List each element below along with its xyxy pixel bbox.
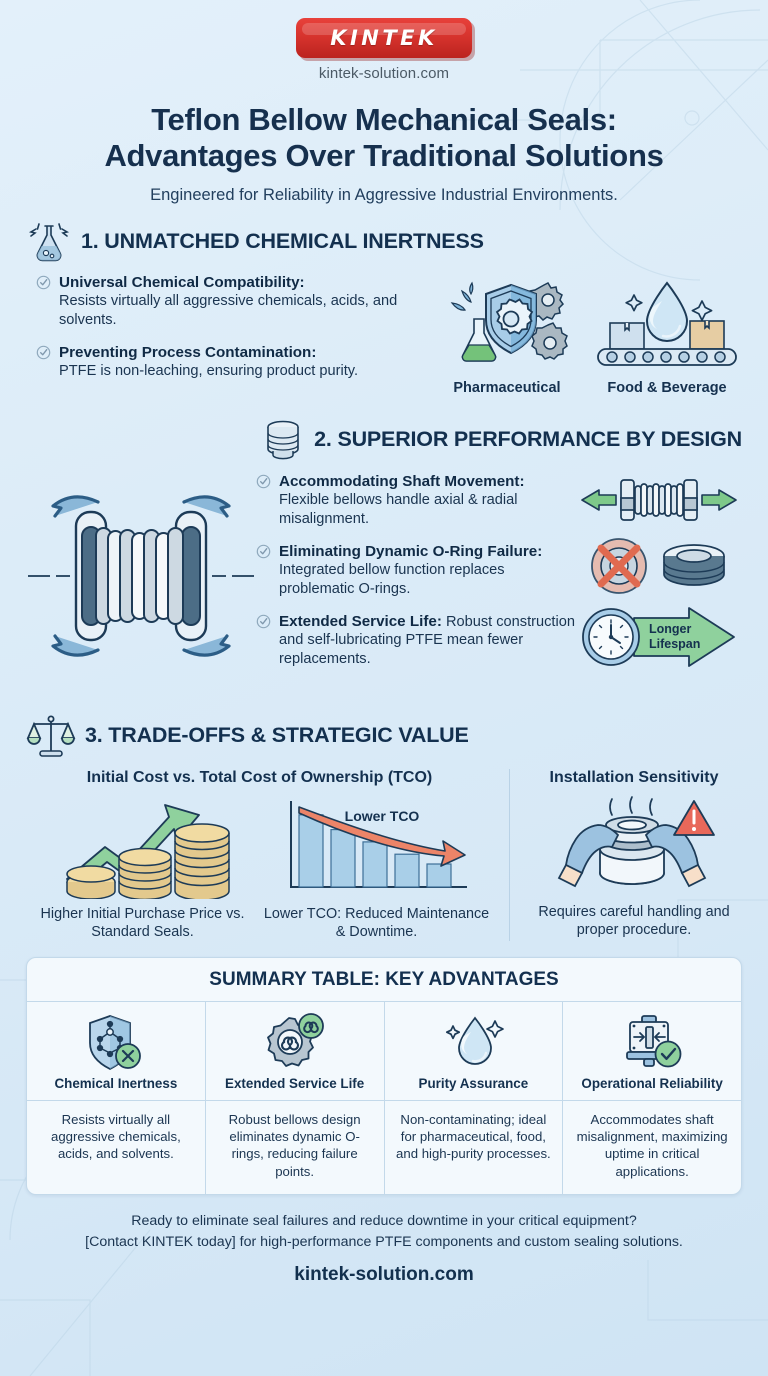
page-subtitle: Engineered for Reliability in Aggressive…	[0, 186, 768, 205]
check-circle-icon	[256, 544, 271, 559]
card-pharmaceutical: Pharmaceutical	[432, 273, 582, 396]
section-chemical-inertness: 1. UNMATCHED CHEMICAL INERTNESS Universa…	[0, 205, 768, 396]
footer-website[interactable]: kintek-solution.com	[0, 1264, 768, 1286]
bullet-lead: Extended Service Life:	[279, 613, 442, 630]
summary-heading: Extended Service Life	[206, 1074, 384, 1100]
bullet-lead: Accommodating Shaft Movement:	[279, 473, 525, 490]
list-item: Eliminating Dynamic O-Ring Failure: Inte…	[256, 542, 576, 599]
bellows-seal-diagram	[26, 472, 256, 682]
card-food-beverage: Food & Beverage	[592, 273, 742, 396]
page-title-line2: Advantages Over Traditional Solutions	[0, 138, 768, 174]
header: KINTEK kintek-solution.com Teflon Bellow…	[0, 0, 768, 205]
installation-caption: Requires careful handling and proper pro…	[526, 903, 742, 939]
infographic-page: KINTEK kintek-solution.com Teflon Bellow…	[0, 0, 768, 1376]
bellows-coil-icon	[261, 418, 305, 462]
section2-bullets: Accommodating Shaft Movement: Flexible b…	[256, 472, 576, 669]
section3-title: 3. TRADE-OFFS & STRATEGIC VALUE	[85, 723, 469, 748]
installation-block: Installation Sensitivity	[510, 769, 742, 941]
bullet-lead: Universal Chemical Compatibility:	[59, 274, 305, 291]
tco-title: Initial Cost vs. Total Cost of Ownership…	[26, 769, 493, 787]
list-item: Universal Chemical Compatibility: Resist…	[36, 273, 411, 330]
section-tradeoffs: 3. TRADE-OFFS & STRATEGIC VALUE Initial …	[0, 687, 768, 941]
section1-title: 1. UNMATCHED CHEMICAL INERTNESS	[81, 229, 484, 254]
bullet-body: Flexible bellows handle axial & radial m…	[279, 492, 518, 527]
bullet-body: Resists virtually all aggressive chemica…	[59, 293, 397, 328]
summary-column-operational-reliability: Operational Reliability Accommodates sha…	[563, 1002, 741, 1195]
conveyor-droplet-icon	[592, 273, 742, 373]
bullet-body: Integrated bellow function replaces prob…	[279, 562, 505, 597]
logo-wordmark: KINTEK	[330, 26, 438, 50]
list-item: Extended Service Life: Robust constructi…	[256, 612, 576, 669]
gear-infinity-icon	[263, 1012, 327, 1072]
kintek-logo: KINTEK	[296, 18, 472, 58]
water-drop-sparkle-icon	[441, 1012, 505, 1072]
summary-column-extended-service-life: Extended Service Life Robust bellows des…	[206, 1002, 385, 1195]
bullet-lead: Eliminating Dynamic O-Ring Failure:	[279, 543, 542, 560]
badge-line2: Lifespan	[649, 637, 700, 651]
summary-body: Resists virtually all aggressive chemica…	[27, 1101, 205, 1177]
header-website: kintek-solution.com	[0, 65, 768, 82]
axial-movement-icon	[579, 472, 739, 528]
chart-annotation: Lower TCO	[344, 808, 419, 824]
section1-header: 1. UNMATCHED CHEMICAL INERTNESS	[26, 219, 742, 265]
page-title-line1: Teflon Bellow Mechanical Seals:	[0, 102, 768, 138]
card-label: Food & Beverage	[592, 380, 742, 396]
list-item: Accommodating Shaft Movement: Flexible b…	[256, 472, 576, 529]
section3-header: 3. TRADE-OFFS & STRATEGIC VALUE	[26, 713, 742, 759]
coins-caption: Higher Initial Purchase Price vs. Standa…	[29, 905, 257, 941]
chart-caption: Lower TCO: Reduced Maintenance & Downtim…	[263, 905, 491, 941]
check-circle-icon	[36, 345, 51, 360]
shield-gears-flask-icon	[436, 273, 578, 373]
coins-graphic-block: Higher Initial Purchase Price vs. Standa…	[29, 797, 257, 941]
flask-icon	[26, 219, 72, 265]
bellows-illustration	[26, 472, 256, 687]
lower-tco-bar-chart: Lower TCO	[277, 797, 477, 899]
no-oring-icon	[579, 534, 739, 598]
footer: Ready to eliminate seal failures and red…	[0, 1211, 768, 1286]
summary-column-purity-assurance: Purity Assurance Non-contaminating; idea…	[385, 1002, 564, 1195]
bullet-lead: Preventing Process Contamination:	[59, 344, 316, 361]
summary-title: SUMMARY TABLE: KEY ADVANTAGES	[27, 958, 741, 1002]
card-label: Pharmaceutical	[432, 380, 582, 396]
balance-scale-icon	[26, 713, 76, 759]
check-circle-icon	[36, 275, 51, 290]
list-item: Preventing Process Contamination: PTFE i…	[36, 343, 411, 381]
summary-table: SUMMARY TABLE: KEY ADVANTAGES	[26, 957, 742, 1196]
rising-cost-coins-icon	[43, 797, 243, 899]
footer-line1: Ready to eliminate seal failures and red…	[0, 1211, 768, 1232]
summary-column-chemical-inertness: Chemical Inertness Resists virtually all…	[27, 1002, 206, 1195]
seal-check-icon	[620, 1012, 684, 1072]
section2-title: 2. SUPERIOR PERFORMANCE BY DESIGN	[314, 427, 742, 452]
careful-handling-icon	[534, 795, 734, 897]
bullet-body: PTFE is non-leaching, ensuring product p…	[59, 363, 358, 379]
section2-icon-column: Longer Lifespan	[576, 472, 742, 687]
section1-bullets: Universal Chemical Compatibility: Resist…	[36, 273, 411, 381]
section2-header: 2. SUPERIOR PERFORMANCE BY DESIGN	[26, 418, 742, 462]
shield-molecule-icon	[84, 1012, 148, 1072]
summary-body: Non-contaminating; ideal for pharmaceuti…	[385, 1101, 563, 1177]
summary-heading: Chemical Inertness	[27, 1074, 205, 1100]
summary-body: Robust bellows design eliminates dynamic…	[206, 1101, 384, 1195]
check-circle-icon	[256, 474, 271, 489]
tco-chart-block: Lower TCO Lower TCO: Reduced Maintenance…	[263, 797, 491, 941]
longer-lifespan-icon: Longer Lifespan	[579, 604, 739, 670]
footer-line2: [Contact KINTEK today] for high-performa…	[0, 1232, 768, 1253]
summary-heading: Operational Reliability	[563, 1074, 741, 1100]
tco-comparison-block: Initial Cost vs. Total Cost of Ownership…	[26, 769, 510, 941]
badge-line1: Longer	[649, 622, 691, 636]
summary-body: Accommodates shaft misalignment, maximiz…	[563, 1101, 741, 1195]
section-superior-performance: 2. SUPERIOR PERFORMANCE BY DESIGN	[0, 396, 768, 687]
check-circle-icon	[256, 614, 271, 629]
summary-heading: Purity Assurance	[385, 1074, 563, 1100]
installation-title: Installation Sensitivity	[526, 769, 742, 787]
page-title: Teflon Bellow Mechanical Seals: Advantag…	[0, 102, 768, 175]
